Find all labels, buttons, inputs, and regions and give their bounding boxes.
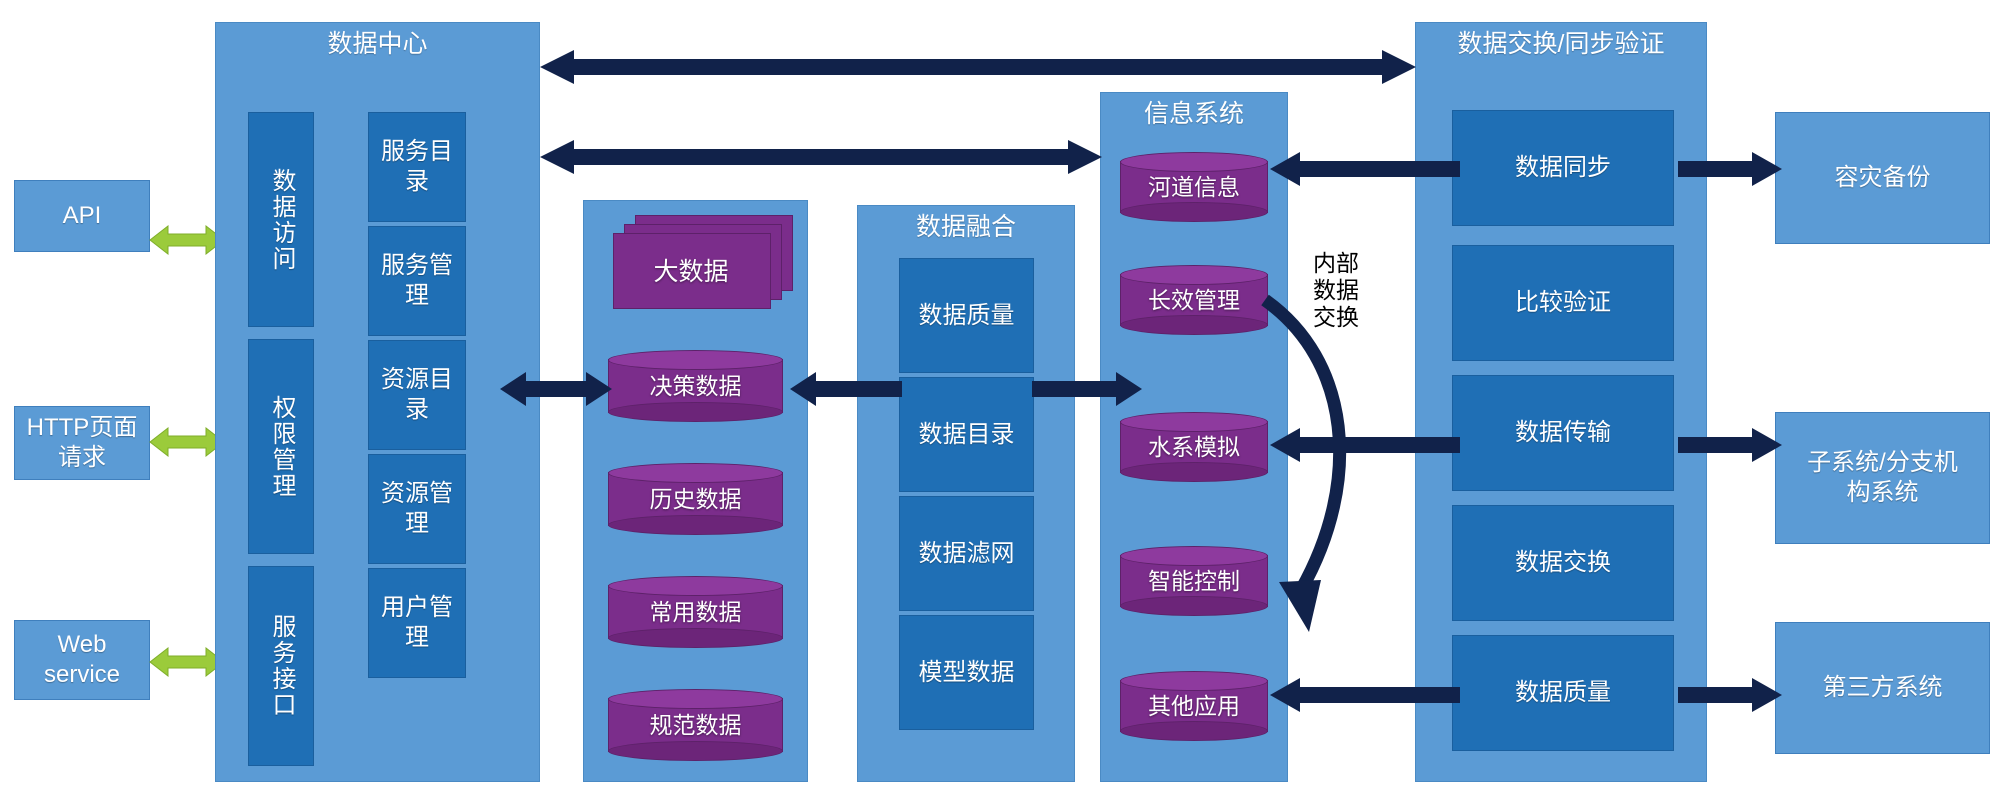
cylinder-standard-data-label: 规范数据: [608, 689, 783, 761]
client-box-webservice-label: Web service: [44, 630, 120, 690]
cylinder-smart-control-label: 智能控制: [1120, 546, 1268, 616]
data-exchange-data-transmission-label: 数据传输: [1515, 418, 1611, 448]
arrow-datacenter-to-dataexchange-top: [540, 50, 1416, 84]
external-system-third-party[interactable]: 第三方系统: [1775, 622, 1990, 754]
cylinder-history-data-label: 历史数据: [608, 463, 783, 535]
data-exchange-data-sync-label: 数据同步: [1515, 153, 1611, 183]
data-center-access-permission[interactable]: 权限管理: [248, 339, 314, 554]
data-exchange-data-quality-label: 数据质量: [1515, 678, 1611, 708]
arrow-webservice-to-datacenter: [150, 644, 224, 680]
data-fusion-title: 数据融合: [858, 212, 1074, 242]
external-system-subsystem-branch-label: 子系统/分支机 构系统: [1807, 448, 1958, 508]
cylinder-water-simulation-label: 水系模拟: [1120, 412, 1268, 482]
data-fusion-data-filter-label: 数据滤网: [919, 539, 1015, 569]
arrow-dataexchange-to-infosystem-transmission: [1270, 428, 1460, 462]
data-center-access-data-access-label: 数据访问: [267, 168, 295, 272]
internal-data-exchange-label: 内部 数据 交换: [1296, 250, 1376, 331]
data-center-access-permission-label: 权限管理: [267, 395, 295, 499]
arrow-http-to-datacenter: [150, 424, 224, 460]
big-data-stack-label: 大数据: [613, 233, 769, 307]
data-exchange-data-sync[interactable]: 数据同步: [1452, 110, 1674, 226]
cylinder-standard-data[interactable]: 规范数据: [608, 689, 783, 761]
data-center-resource-catalog-label: 资源目录: [377, 365, 457, 425]
architecture-diagram: API HTTP页面 请求 Web service 数据中心 数据访问 权限管理…: [0, 0, 2016, 806]
big-data-stack[interactable]: 大数据: [613, 215, 793, 307]
arrow-dataexchange-to-subsystem-branch: [1678, 428, 1782, 462]
data-exchange-comparison-validation[interactable]: 比较验证: [1452, 245, 1674, 361]
data-center-resource-management-label: 资源管理: [377, 479, 457, 539]
arrow-dataexchange-to-infosystem-quality: [1270, 678, 1460, 712]
cylinder-smart-control[interactable]: 智能控制: [1120, 546, 1268, 616]
external-system-subsystem-branch[interactable]: 子系统/分支机 构系统: [1775, 412, 1990, 544]
data-center-user-management-label: 用户管理: [377, 593, 457, 653]
cylinder-common-data[interactable]: 常用数据: [608, 576, 783, 648]
cylinder-river-info-label: 河道信息: [1120, 152, 1268, 222]
arrow-dataexchange-to-third-party: [1678, 678, 1782, 712]
data-fusion-data-quality-label: 数据质量: [919, 301, 1015, 331]
data-exchange-comparison-validation-label: 比较验证: [1515, 288, 1611, 318]
cylinder-decision-data-label: 决策数据: [608, 350, 783, 422]
arrow-internal-data-exchange: [1255, 290, 1380, 650]
data-exchange-data-transmission[interactable]: 数据传输: [1452, 375, 1674, 491]
arrow-datacenter-to-bigdata: [500, 372, 612, 406]
information-system-title: 信息系统: [1101, 99, 1287, 129]
data-center-service-catalog-label: 服务目录: [377, 137, 457, 197]
data-fusion-data-filter[interactable]: 数据滤网: [899, 496, 1034, 611]
client-box-api-label: API: [63, 201, 102, 231]
data-fusion-model-data[interactable]: 模型数据: [899, 615, 1034, 730]
data-center-service-management[interactable]: 服务管理: [368, 226, 466, 336]
client-box-http-label: HTTP页面 请求: [27, 413, 138, 473]
arrow-datafusion-to-infosystem: [1032, 372, 1142, 406]
external-system-disaster-backup[interactable]: 容灾备份: [1775, 112, 1990, 244]
external-system-disaster-backup-label: 容灾备份: [1835, 163, 1931, 193]
arrow-api-to-datacenter: [150, 222, 224, 258]
cylinder-longterm-management-label: 长效管理: [1120, 265, 1268, 335]
cylinder-water-simulation[interactable]: 水系模拟: [1120, 412, 1268, 482]
external-system-third-party-label: 第三方系统: [1823, 673, 1943, 703]
data-center-access-service-interface-label: 服务接口: [267, 614, 295, 718]
arrow-dataexchange-to-infosystem-sync: [1270, 152, 1460, 186]
data-center-resource-catalog[interactable]: 资源目录: [368, 340, 466, 450]
data-exchange-data-exchange-label: 数据交换: [1515, 548, 1611, 578]
client-box-http[interactable]: HTTP页面 请求: [14, 406, 150, 480]
data-center-service-catalog[interactable]: 服务目录: [368, 112, 466, 222]
cylinder-history-data[interactable]: 历史数据: [608, 463, 783, 535]
data-center-access-service-interface[interactable]: 服务接口: [248, 566, 314, 766]
data-exchange-title: 数据交换/同步验证: [1416, 29, 1706, 59]
cylinder-common-data-label: 常用数据: [608, 576, 783, 648]
data-fusion-data-catalog[interactable]: 数据目录: [899, 377, 1034, 492]
cylinder-river-info[interactable]: 河道信息: [1120, 152, 1268, 222]
client-box-api[interactable]: API: [14, 180, 150, 252]
arrow-dataexchange-to-disaster-backup: [1678, 152, 1782, 186]
arrow-datafusion-to-bigdata: [790, 372, 902, 406]
data-center-user-management[interactable]: 用户管理: [368, 568, 466, 678]
client-box-webservice[interactable]: Web service: [14, 620, 150, 700]
data-center-title: 数据中心: [216, 29, 539, 59]
cylinder-other-applications[interactable]: 其他应用: [1120, 671, 1268, 741]
data-center-access-data-access[interactable]: 数据访问: [248, 112, 314, 327]
cylinder-other-applications-label: 其他应用: [1120, 671, 1268, 741]
cylinder-decision-data[interactable]: 决策数据: [608, 350, 783, 422]
data-fusion-data-quality[interactable]: 数据质量: [899, 258, 1034, 373]
data-exchange-data-exchange[interactable]: 数据交换: [1452, 505, 1674, 621]
arrow-datacenter-to-infosystem: [540, 140, 1102, 174]
data-fusion-model-data-label: 模型数据: [919, 658, 1015, 688]
data-fusion-data-catalog-label: 数据目录: [919, 420, 1015, 450]
data-exchange-data-quality[interactable]: 数据质量: [1452, 635, 1674, 751]
data-center-resource-management[interactable]: 资源管理: [368, 454, 466, 564]
cylinder-longterm-management[interactable]: 长效管理: [1120, 265, 1268, 335]
data-center-service-management-label: 服务管理: [377, 251, 457, 311]
